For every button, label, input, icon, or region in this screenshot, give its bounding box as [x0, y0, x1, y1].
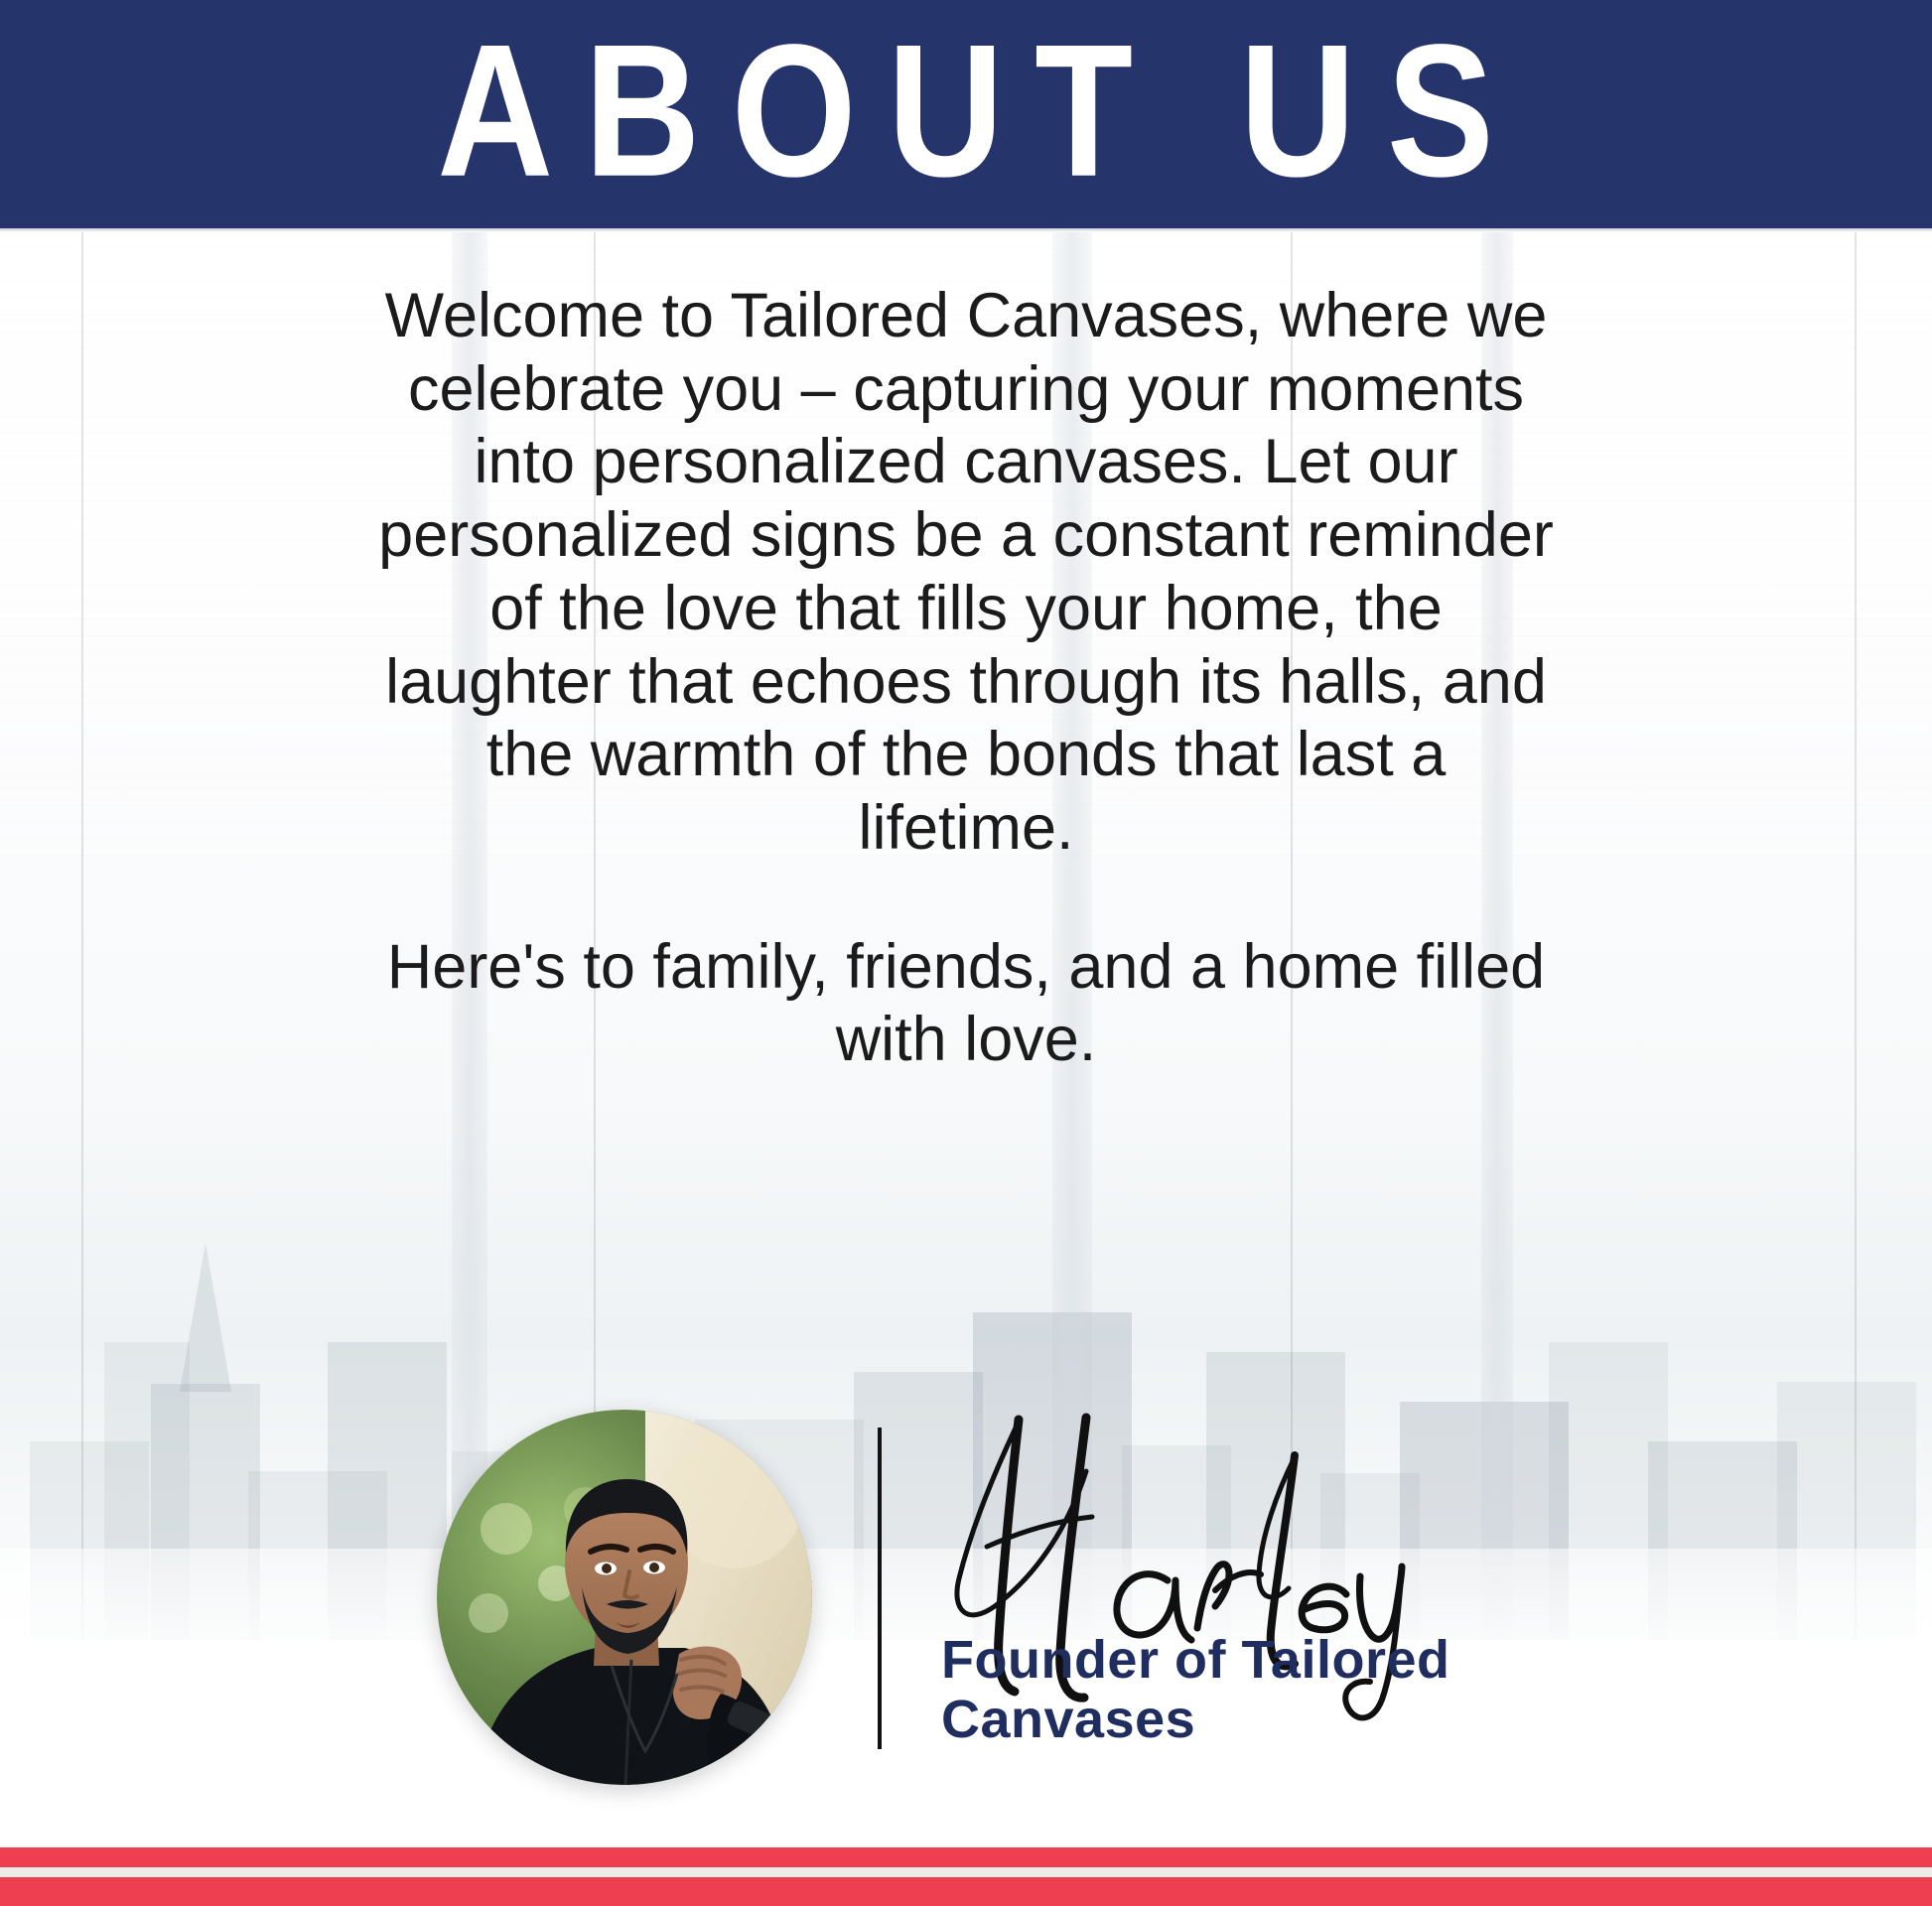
footer-stripe-gap — [0, 1867, 1932, 1877]
founder-role: Founder of Tailored Canvases — [941, 1630, 1557, 1750]
page-title: ABOUT US — [406, 17, 1525, 205]
about-us-poster: ABOUT US Welcome to Tailored Canvases, w… — [0, 0, 1932, 1906]
skyline-spire — [180, 1243, 231, 1392]
avatar-image — [437, 1410, 812, 1785]
founder-role-line-1: Founder of Tailored — [941, 1630, 1557, 1690]
footer-stripe-top — [0, 1847, 1932, 1867]
window-mullion — [81, 230, 83, 1640]
about-copy: Welcome to Tailored Canvases, where we c… — [370, 280, 1562, 1077]
header-underline — [0, 228, 1932, 232]
header-bar: ABOUT US — [0, 0, 1932, 228]
window-mullion — [1855, 230, 1857, 1640]
footer-stripe-bottom — [0, 1877, 1932, 1906]
avatar — [437, 1410, 812, 1785]
about-paragraph-2: Here's to family, friends, and a home fi… — [370, 931, 1562, 1077]
about-paragraph-1: Welcome to Tailored Canvases, where we c… — [370, 280, 1562, 866]
founder-role-line-2: Canvases — [941, 1690, 1557, 1749]
